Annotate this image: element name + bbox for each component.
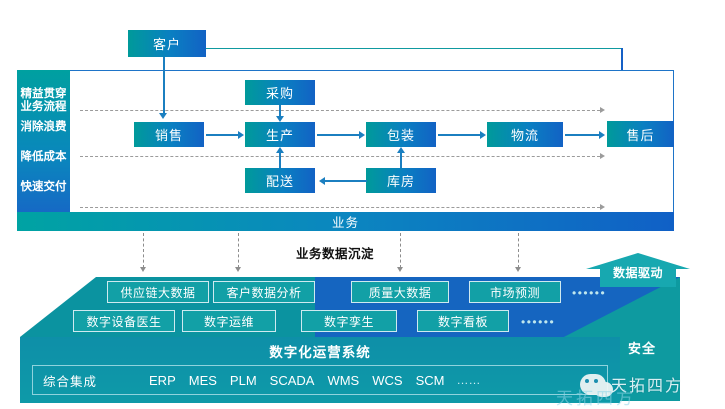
base-system-wms: WMS — [327, 373, 359, 388]
platform-base-systems-row: 综合集成 ERP MES PLM SCADA WMS WCS SCM …… — [32, 365, 608, 395]
base-system-plm: PLM — [230, 373, 257, 388]
sink-dash-3-arrow — [397, 267, 403, 272]
guide-line-lower-arrow — [600, 153, 605, 159]
sink-dash-1 — [143, 233, 144, 268]
chip-digital-twin-label: 数字孪生 — [324, 313, 374, 330]
connector-customer-sales — [163, 57, 165, 114]
platform-base-title: 数字化运营系统 — [20, 340, 620, 362]
row-bottom-ellipsis: •••••• — [521, 315, 555, 329]
sink-dash-3 — [400, 233, 401, 268]
node-warehouse-label: 库房 — [387, 171, 415, 190]
feedback-line-aftersales-top-h — [203, 48, 623, 49]
node-warehouse[interactable]: 库房 — [366, 168, 436, 193]
node-packaging[interactable]: 包装 — [366, 122, 436, 147]
base-system-more: …… — [456, 373, 480, 387]
connector-logistics-aftersales — [565, 134, 599, 136]
chip-digital-ops[interactable]: 数字运维 — [182, 310, 276, 332]
node-customer[interactable]: 客户 — [128, 30, 206, 57]
base-system-erp: ERP — [149, 373, 176, 388]
sidebar-item-waste: 消除浪费 — [17, 121, 70, 134]
connector-warehouse-packaging-arrow — [397, 147, 405, 153]
node-procurement-label: 采购 — [266, 83, 294, 102]
node-customer-label: 客户 — [153, 34, 181, 53]
connector-warehouse-delivery-arrow — [319, 177, 325, 185]
node-logistics-label: 物流 — [511, 125, 539, 144]
connector-logistics-aftersales-arrow — [599, 131, 605, 139]
connector-warehouse-packaging — [400, 152, 402, 168]
sink-label: 业务数据沉淀 — [296, 243, 374, 262]
connector-delivery-production-arrow — [276, 147, 284, 153]
sink-dash-4 — [518, 233, 519, 268]
base-system-scada: SCADA — [270, 373, 315, 388]
watermark-ghost: 天拓四方 — [556, 384, 725, 408]
node-production[interactable]: 生产 — [245, 122, 315, 147]
base-system-scm: SCM — [416, 373, 445, 388]
data-driven-label: 数据驱动 — [586, 264, 690, 281]
node-aftersales[interactable]: 售后 — [607, 121, 674, 147]
chip-customer-analytics[interactable]: 客户数据分析 — [213, 281, 315, 303]
diagram-canvas: 精益贯穿 业务流程 消除浪费 降低成本 快速交付 客户 采购 销售 生产 包装 … — [0, 0, 725, 408]
node-sales-label: 销售 — [155, 125, 183, 144]
guide-line-bottom-arrow — [600, 204, 605, 210]
connector-packaging-logistics — [438, 134, 480, 136]
sidebar-item-cost: 降低成本 — [17, 151, 70, 164]
chip-quality-bigdata[interactable]: 质量大数据 — [351, 281, 449, 303]
node-sales[interactable]: 销售 — [134, 122, 204, 147]
connector-sales-production — [206, 134, 238, 136]
chip-market-forecast-label: 市场预测 — [490, 284, 540, 301]
base-system-wcs: WCS — [372, 373, 402, 388]
chip-digital-dashboard-label: 数字看板 — [438, 313, 488, 330]
guide-line-bottom — [80, 207, 600, 208]
chip-quality-bigdata-label: 质量大数据 — [369, 284, 432, 301]
base-system-mes: MES — [189, 373, 217, 388]
sidebar-item-lean-line1: 精益贯穿 — [17, 88, 70, 101]
node-production-label: 生产 — [266, 125, 294, 144]
chip-digital-twin[interactable]: 数字孪生 — [301, 310, 397, 332]
chip-market-forecast[interactable]: 市场预测 — [469, 281, 561, 303]
chip-digital-equipment-doctor[interactable]: 数字设备医生 — [73, 310, 175, 332]
connector-delivery-production — [279, 152, 281, 168]
business-bar: 业务 — [17, 212, 674, 231]
node-logistics[interactable]: 物流 — [487, 122, 563, 147]
connector-production-packaging — [317, 134, 359, 136]
sink-dash-4-arrow — [515, 267, 521, 272]
sink-dash-2 — [238, 233, 239, 268]
base-left-label: 综合集成 — [43, 371, 97, 390]
node-delivery-label: 配送 — [266, 171, 294, 190]
node-aftersales-label: 售后 — [626, 125, 654, 144]
chip-digital-dashboard[interactable]: 数字看板 — [417, 310, 509, 332]
chip-supply-chain-bigdata[interactable]: 供应链大数据 — [107, 281, 209, 303]
node-packaging-label: 包装 — [387, 125, 415, 144]
row-top-ellipsis: •••••• — [572, 286, 606, 300]
chip-customer-analytics-label: 客户数据分析 — [226, 284, 301, 301]
guide-line-upper — [80, 110, 600, 111]
node-procurement[interactable]: 采购 — [245, 80, 315, 105]
connector-customer-sales-arrow — [159, 113, 167, 119]
business-bar-label: 业务 — [332, 212, 359, 231]
sink-dash-2-arrow — [235, 267, 241, 272]
guide-line-lower — [80, 156, 600, 157]
connector-warehouse-delivery — [325, 180, 367, 182]
chip-digital-equipment-doctor-label: 数字设备医生 — [86, 313, 161, 330]
sidebar-item-lean-line2: 业务流程 — [17, 101, 70, 114]
sink-dash-1-arrow — [140, 267, 146, 272]
chip-digital-ops-label: 数字运维 — [204, 313, 254, 330]
connector-production-packaging-arrow — [359, 131, 365, 139]
guide-line-upper-arrow — [600, 107, 605, 113]
security-label: 安全 — [592, 338, 692, 357]
chip-supply-chain-bigdata-label: 供应链大数据 — [120, 284, 195, 301]
connector-sales-production-arrow — [238, 131, 244, 139]
data-driven-arrow: 数据驱动 — [586, 253, 690, 287]
sidebar-item-delivery: 快速交付 — [17, 181, 70, 194]
node-delivery[interactable]: 配送 — [245, 168, 315, 193]
connector-packaging-logistics-arrow — [480, 131, 486, 139]
sidebar-item-lean: 精益贯穿 业务流程 — [17, 88, 70, 114]
